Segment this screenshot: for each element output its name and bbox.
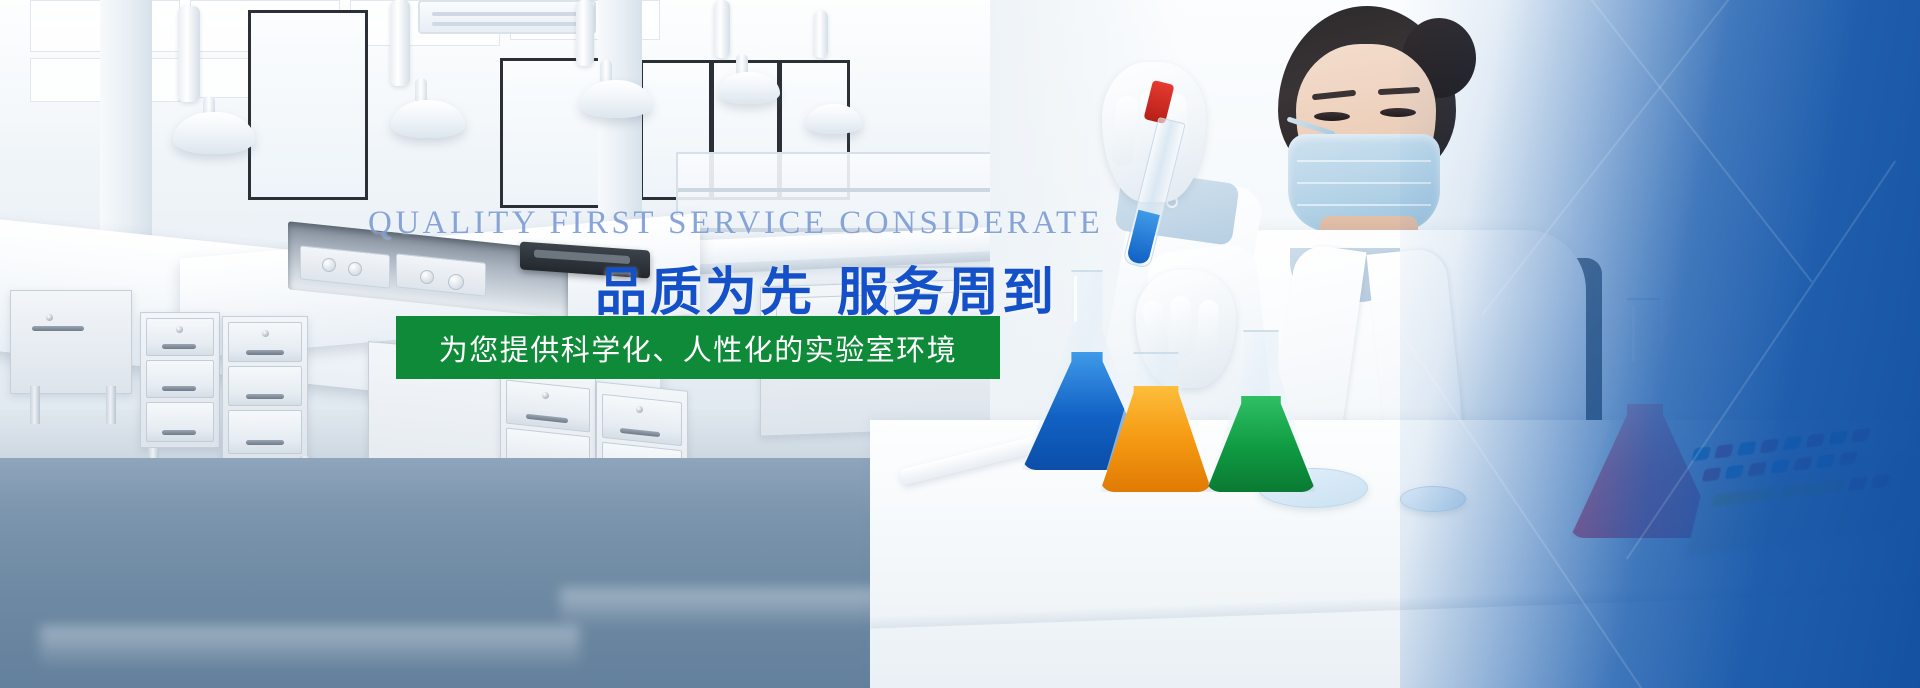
subtitle-green-bar: 为您提供科学化、人性化的实验室环境	[396, 316, 1000, 379]
headline-part-2: 服务周到	[837, 263, 1057, 323]
chinese-headline: 品质为先服务周到	[595, 250, 1057, 325]
headline-part-1: 品质为先	[595, 263, 815, 323]
english-tagline: QUALITY FIRST SERVICE CONSIDERATE	[368, 205, 1103, 242]
banner-text-block: QUALITY FIRST SERVICE CONSIDERATE 品质为先服务…	[0, 0, 1920, 688]
subtitle-text: 为您提供科学化、人性化的实验室环境	[439, 327, 958, 369]
hero-banner: QUALITY FIRST SERVICE CONSIDERATE 品质为先服务…	[0, 0, 1920, 688]
